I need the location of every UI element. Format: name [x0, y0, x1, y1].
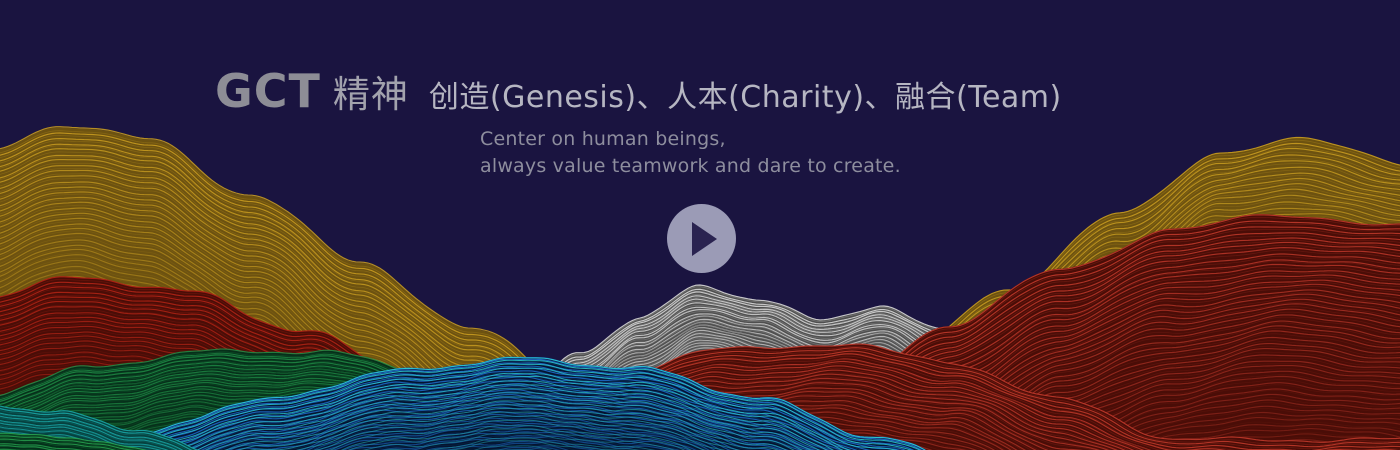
play-video-button[interactable] — [667, 204, 736, 273]
gct-spirit-banner: GCT 精神 创造(Genesis)、人本(Charity)、融合(Team) … — [0, 0, 1400, 450]
play-triangle-icon — [692, 222, 717, 256]
